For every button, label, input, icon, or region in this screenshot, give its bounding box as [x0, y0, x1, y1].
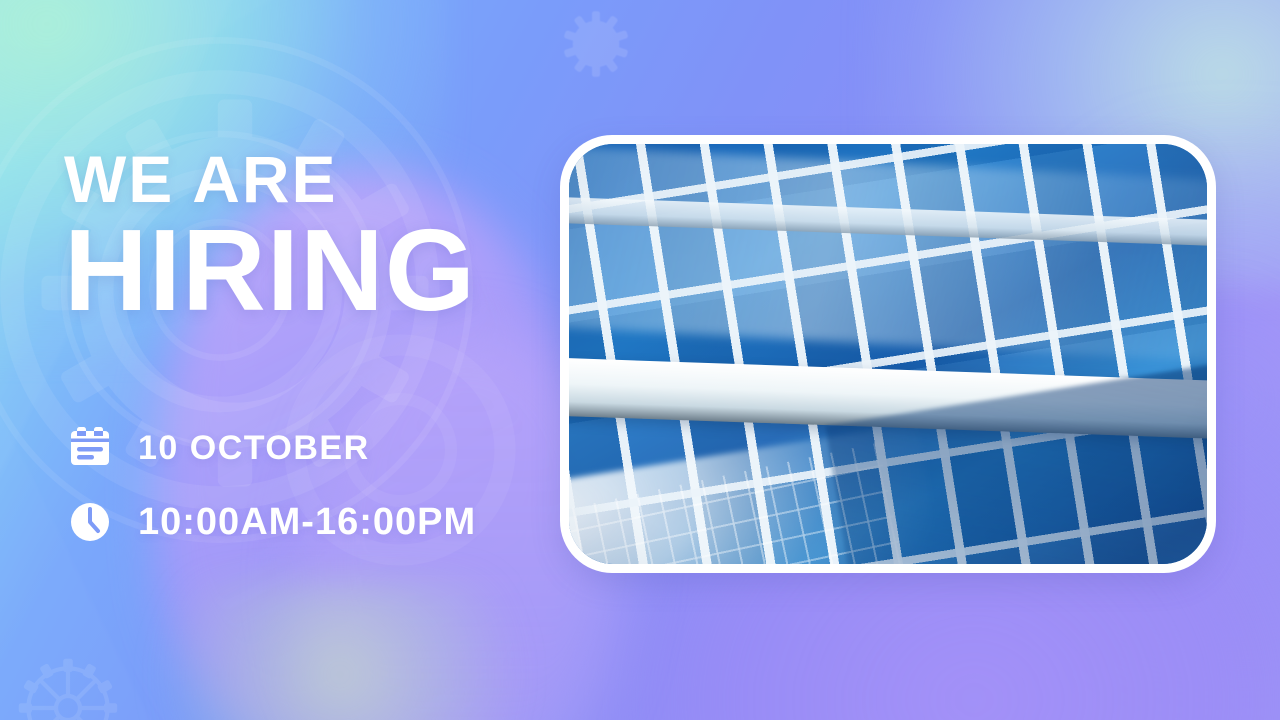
headline-block: WE ARE HIRING: [64, 148, 476, 322]
photo-card: [560, 135, 1216, 573]
glass-facade-artwork: [569, 144, 1207, 564]
poster-canvas: WE ARE HIRING 10 OCTOBE: [0, 0, 1280, 720]
event-date: 10 OCTOBER: [138, 431, 370, 465]
date-row: 10 OCTOBER: [66, 424, 476, 472]
headline-small: WE ARE: [64, 148, 476, 210]
building-photo: [569, 144, 1207, 564]
headline-large: HIRING: [64, 218, 476, 322]
clock-icon: [66, 498, 114, 546]
facade-vignette: [569, 144, 1207, 564]
event-time: 10:00AM-16:00PM: [138, 503, 476, 541]
poster-content: WE ARE HIRING 10 OCTOBE: [64, 0, 584, 720]
time-row: 10:00AM-16:00PM: [66, 498, 476, 546]
event-details: 10 OCTOBER 10:00AM-16:00PM: [66, 424, 476, 546]
calendar-icon: [66, 424, 114, 472]
